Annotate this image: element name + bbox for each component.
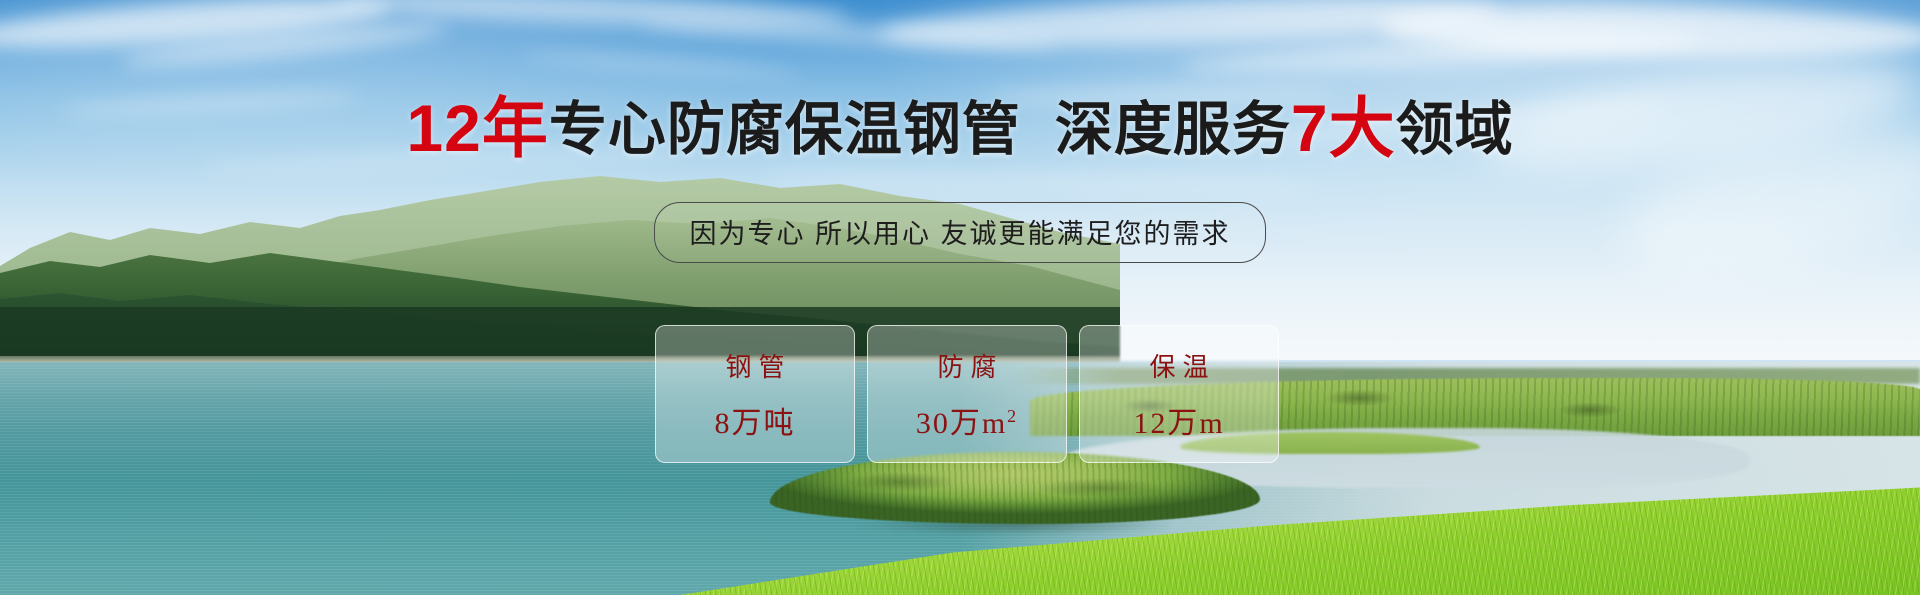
headline-fields: 领域	[1396, 97, 1514, 162]
headline-main: 专心防腐保温钢管	[549, 97, 1021, 162]
stat-value-main: 8万吨	[715, 407, 796, 440]
stat-value-exponent: 2	[1007, 406, 1018, 426]
stat-box-anticorrosion[interactable]: 防腐 30万m2	[867, 325, 1067, 463]
banner-headline: 12年专心防腐保温钢管深度服务7大领域	[0, 95, 1920, 161]
stat-value: 8万吨	[715, 398, 796, 442]
stat-box-steel-pipe[interactable]: 钢管 8万吨	[655, 325, 855, 463]
stat-value: 30万m2	[916, 398, 1018, 442]
stat-box-insulation[interactable]: 保温 12万m	[1079, 325, 1279, 463]
stat-value-main: 30万m	[916, 407, 1007, 440]
subtitle-pill: 因为专心 所以用心 友诚更能满足您的需求	[654, 202, 1265, 263]
subtitle-container: 因为专心 所以用心 友诚更能满足您的需求	[0, 202, 1920, 263]
stat-value-main: 12万m	[1133, 407, 1224, 440]
hero-banner: 12年专心防腐保温钢管深度服务7大领域 因为专心 所以用心 友诚更能满足您的需求…	[0, 0, 1920, 595]
stat-box-group: 钢管 8万吨 防腐 30万m2 保温 12万m	[655, 325, 1279, 463]
stat-value: 12万m	[1133, 398, 1224, 442]
headline-years: 12年	[406, 91, 548, 165]
headline-seven: 7大	[1291, 91, 1396, 165]
stat-label: 钢管	[718, 347, 791, 384]
stat-label: 保温	[1142, 347, 1215, 384]
headline-service: 深度服务	[1055, 97, 1291, 162]
stat-label: 防腐	[930, 347, 1003, 384]
